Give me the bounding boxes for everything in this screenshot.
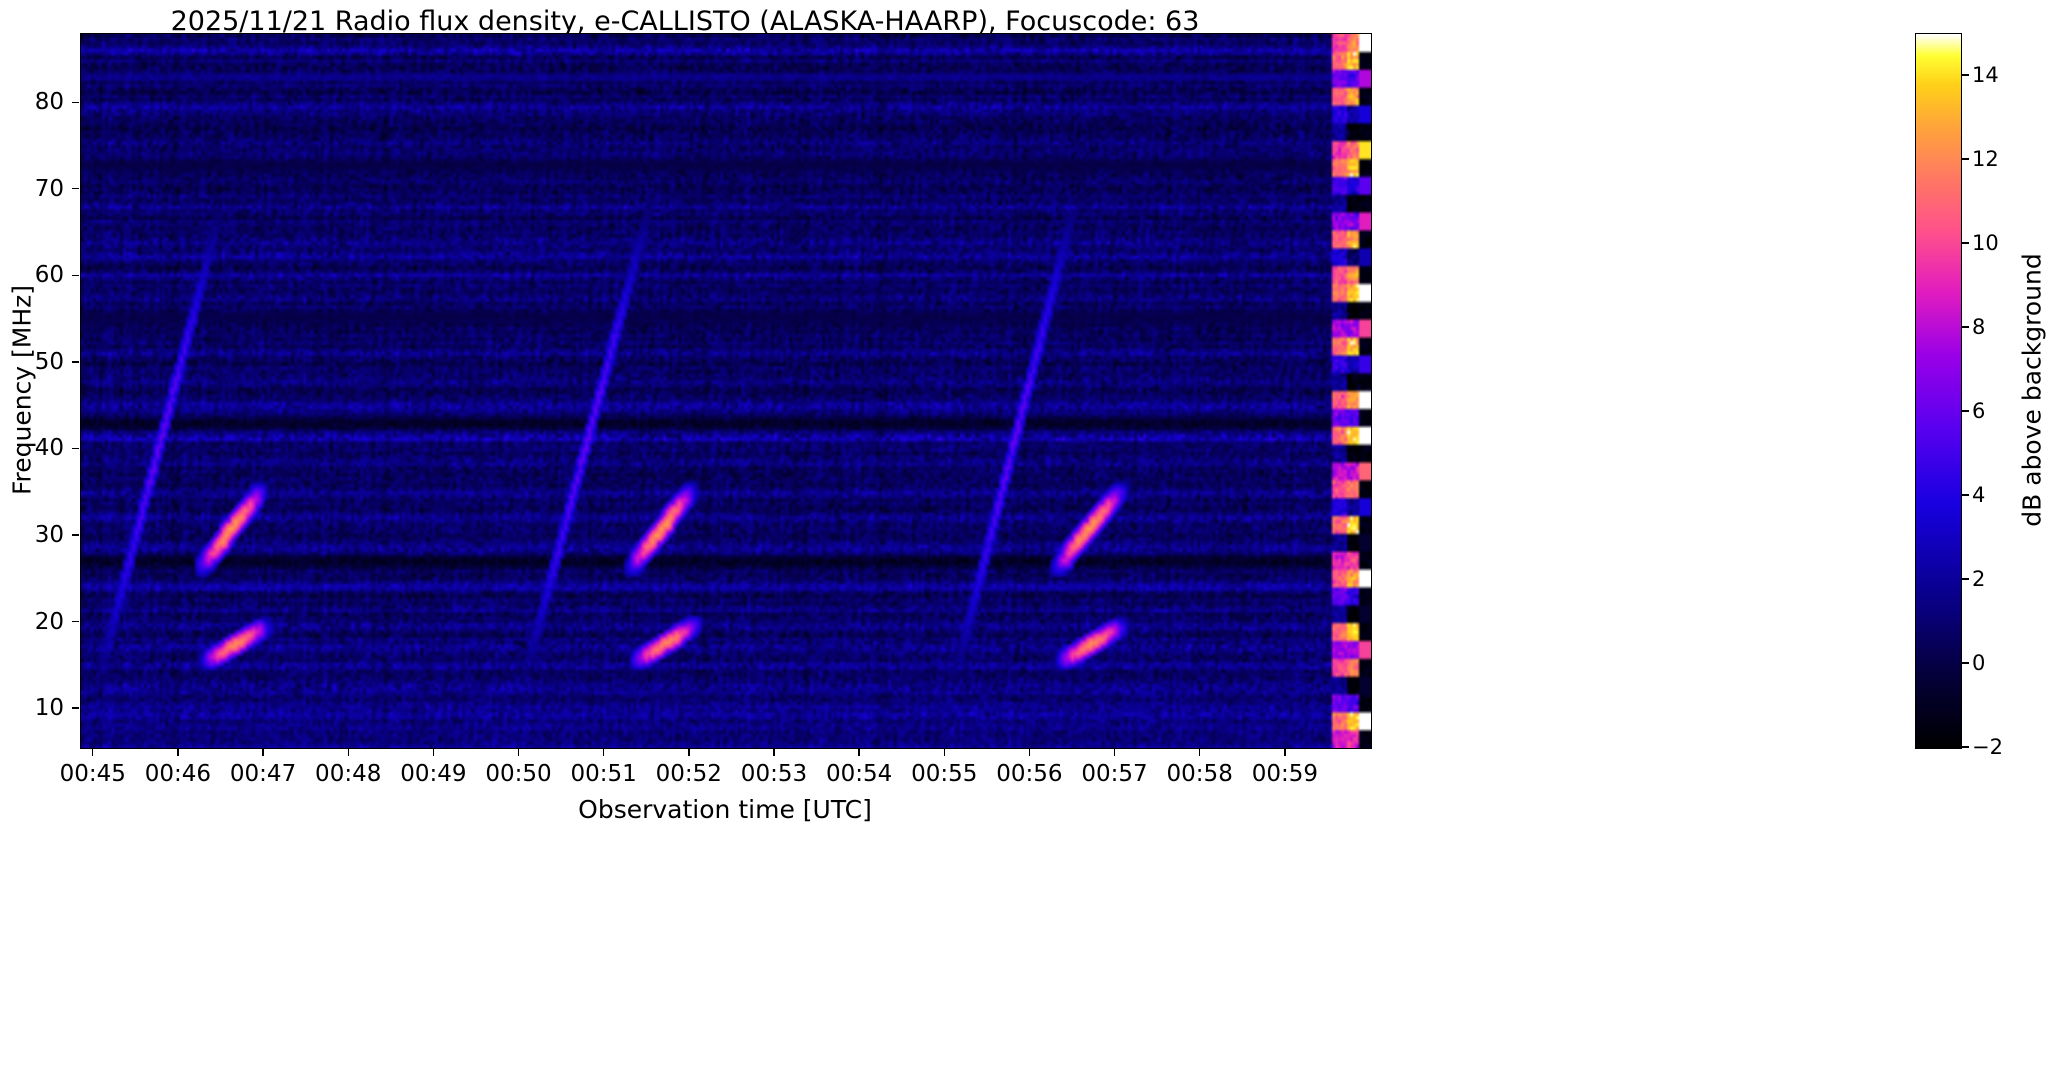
x-tick-label: 00:55 xyxy=(911,761,977,787)
x-tick-mark xyxy=(1114,748,1115,756)
spectrogram-image xyxy=(81,34,1371,748)
x-tick-label: 00:56 xyxy=(996,761,1062,787)
colorbar-tick-mark xyxy=(1962,662,1969,663)
x-tick-label: 00:51 xyxy=(571,761,637,787)
colorbar-tick-label: 12 xyxy=(1972,147,1999,171)
x-tick-label: 00:57 xyxy=(1081,761,1147,787)
y-tick-mark xyxy=(72,361,79,362)
x-tick-mark xyxy=(348,748,349,756)
colorbar-tick-label: 14 xyxy=(1972,63,1999,87)
x-tick-mark xyxy=(177,748,178,756)
colorbar-tick-mark xyxy=(1962,410,1969,411)
y-tick-label: 80 xyxy=(4,89,64,115)
y-tick-mark xyxy=(72,534,79,535)
x-tick-label: 00:50 xyxy=(485,761,551,787)
y-tick-label: 60 xyxy=(4,262,64,288)
y-tick-label: 10 xyxy=(4,695,64,721)
x-tick-mark xyxy=(433,748,434,756)
x-tick-label: 00:46 xyxy=(145,761,211,787)
x-tick-mark xyxy=(1284,748,1285,756)
colorbar-tick-mark xyxy=(1962,578,1969,579)
x-tick-mark xyxy=(858,748,859,756)
colorbar-gradient xyxy=(1916,34,1961,748)
y-axis-label: Frequency [MHz] xyxy=(8,285,37,495)
colorbar-tick-label: 2 xyxy=(1972,567,1985,591)
colorbar-tick-label: 4 xyxy=(1972,483,1985,507)
colorbar-tick-label: 0 xyxy=(1972,651,1985,675)
colorbar-tick-label: 6 xyxy=(1972,399,1985,423)
y-tick-mark xyxy=(72,188,79,189)
spectrogram-canvas xyxy=(81,34,1371,748)
x-tick-label: 00:52 xyxy=(656,761,722,787)
colorbar-tick-label: −2 xyxy=(1972,735,2003,759)
y-tick-mark xyxy=(72,621,79,622)
x-tick-label: 00:58 xyxy=(1167,761,1233,787)
y-tick-mark xyxy=(72,707,79,708)
x-tick-mark xyxy=(944,748,945,756)
x-tick-label: 00:49 xyxy=(400,761,466,787)
y-tick-label: 70 xyxy=(4,176,64,202)
y-tick-mark xyxy=(72,275,79,276)
x-tick-mark xyxy=(773,748,774,756)
colorbar-tick-label: 10 xyxy=(1972,231,1999,255)
spectrogram-axes[interactable] xyxy=(80,33,1372,749)
x-tick-mark xyxy=(1199,748,1200,756)
y-tick-mark xyxy=(72,102,79,103)
x-axis-label: Observation time [UTC] xyxy=(578,795,872,824)
colorbar-tick-label: 8 xyxy=(1972,315,1985,339)
colorbar-tick-mark xyxy=(1962,494,1969,495)
x-tick-mark xyxy=(518,748,519,756)
colorbar-tick-mark xyxy=(1962,326,1969,327)
x-tick-label: 00:48 xyxy=(315,761,381,787)
x-tick-label: 00:53 xyxy=(741,761,807,787)
y-tick-label: 40 xyxy=(4,435,64,461)
x-tick-label: 00:59 xyxy=(1252,761,1318,787)
colorbar-tick-mark xyxy=(1962,746,1969,747)
colorbar-tick-mark xyxy=(1962,242,1969,243)
x-tick-mark xyxy=(1029,748,1030,756)
x-tick-mark xyxy=(688,748,689,756)
y-tick-label: 50 xyxy=(4,349,64,375)
x-tick-label: 00:45 xyxy=(60,761,126,787)
x-tick-mark xyxy=(262,748,263,756)
x-tick-label: 00:54 xyxy=(826,761,892,787)
colorbar[interactable] xyxy=(1915,33,1962,749)
y-tick-mark xyxy=(72,448,79,449)
x-tick-mark xyxy=(92,748,93,756)
colorbar-label: dB above background xyxy=(2018,253,2047,526)
x-tick-mark xyxy=(603,748,604,756)
y-tick-label: 20 xyxy=(4,609,64,635)
y-tick-label: 30 xyxy=(4,522,64,548)
figure-root: 2025/11/21 Radio flux density, e-CALLIST… xyxy=(0,0,2047,1067)
colorbar-tick-mark xyxy=(1962,158,1969,159)
x-tick-label: 00:47 xyxy=(230,761,296,787)
colorbar-tick-mark xyxy=(1962,74,1969,75)
